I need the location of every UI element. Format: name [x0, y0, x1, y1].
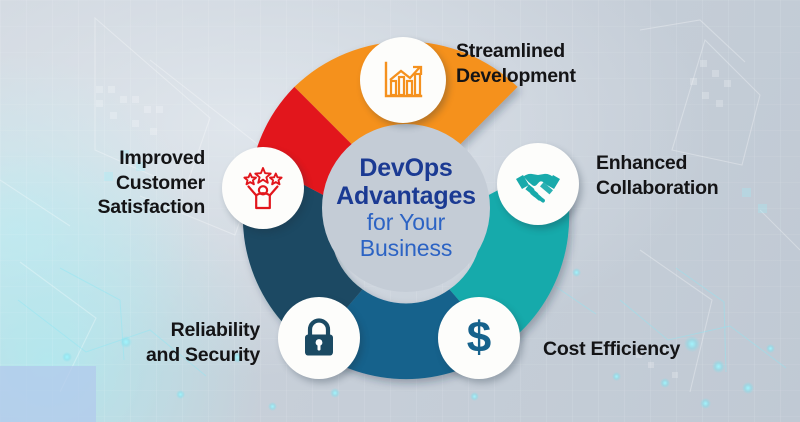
dollar-sign-icon: $: [454, 313, 504, 363]
background-glow-dot: [700, 398, 711, 409]
icon-badge-reliability-and-security[interactable]: [278, 297, 360, 379]
handshake-icon: [513, 159, 563, 209]
svg-text:$: $: [467, 313, 491, 362]
label-improved-customer-satisfaction: Improved Customer Satisfaction: [0, 146, 205, 220]
icon-badge-improved-customer-satisfaction[interactable]: [222, 147, 304, 229]
label-cost-efficiency: Cost Efficiency: [543, 337, 773, 362]
bar-chart-growth-icon: [379, 56, 427, 104]
wheel-hub: [322, 124, 490, 292]
label-enhanced-collaboration: Enhanced Collaboration: [596, 151, 796, 200]
background-glow-dot: [268, 402, 277, 411]
background-glow-dot: [176, 390, 185, 399]
icon-badge-cost-efficiency[interactable]: $: [438, 297, 520, 379]
label-streamlined-development: Streamlined Development: [456, 39, 686, 88]
background-glow-dot: [660, 378, 670, 388]
background-glow-dot: [612, 372, 621, 381]
infographic-canvas: DevOps Advantages for Your Business: [0, 0, 800, 422]
background-glow-dot: [712, 360, 725, 373]
icon-badge-streamlined-development[interactable]: [360, 37, 446, 123]
padlock-icon: [296, 315, 342, 361]
award-person-stars-icon: [238, 163, 288, 213]
background-glow-dot: [742, 382, 754, 394]
label-reliability-and-security: Reliability and Security: [36, 318, 260, 367]
icon-badge-enhanced-collaboration[interactable]: [497, 143, 579, 225]
background-accent-block: [0, 366, 96, 422]
